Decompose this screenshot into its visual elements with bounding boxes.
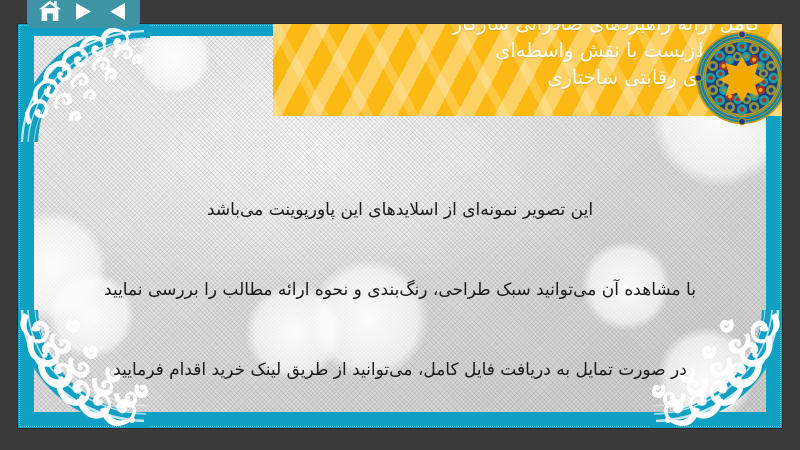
page-title-line-2: با محیط‌زیست با نقش واسطه‌ای [495, 39, 760, 62]
body-text-line-2: با مشاهده آن می‌توانید سبک طراحی، رنگ‌بن… [58, 270, 742, 310]
home-icon [38, 0, 62, 22]
slide-preview-stage: کامل ارائه راهبردهای صادراتی سازگار با م… [0, 0, 800, 450]
body-text-line-3: در صورت تمایل به دریافت فایل کامل، می‌تو… [58, 350, 742, 390]
home-button[interactable] [36, 0, 64, 24]
slide-frame: کامل ارائه راهبردهای صادراتی سازگار با م… [18, 24, 782, 428]
next-button[interactable] [70, 0, 98, 24]
page-title: کامل ارائه راهبردهای صادراتی سازگار با م… [38, 24, 760, 91]
page-title-line-3: مزیت‌های رقابتی ساختاری [547, 66, 760, 89]
previous-button[interactable] [103, 0, 131, 24]
triangle-left-icon [109, 2, 126, 21]
body-text-line-1: این تصویر نمونه‌ای از اسلایدهای این پاور… [58, 190, 742, 230]
body-text: این تصویر نمونه‌ای از اسلایدهای این پاور… [58, 150, 742, 428]
page-title-line-1: کامل ارائه راهبردهای صادراتی سازگار [453, 24, 760, 35]
triangle-right-icon [75, 2, 92, 21]
navigation-bar [27, 0, 140, 28]
